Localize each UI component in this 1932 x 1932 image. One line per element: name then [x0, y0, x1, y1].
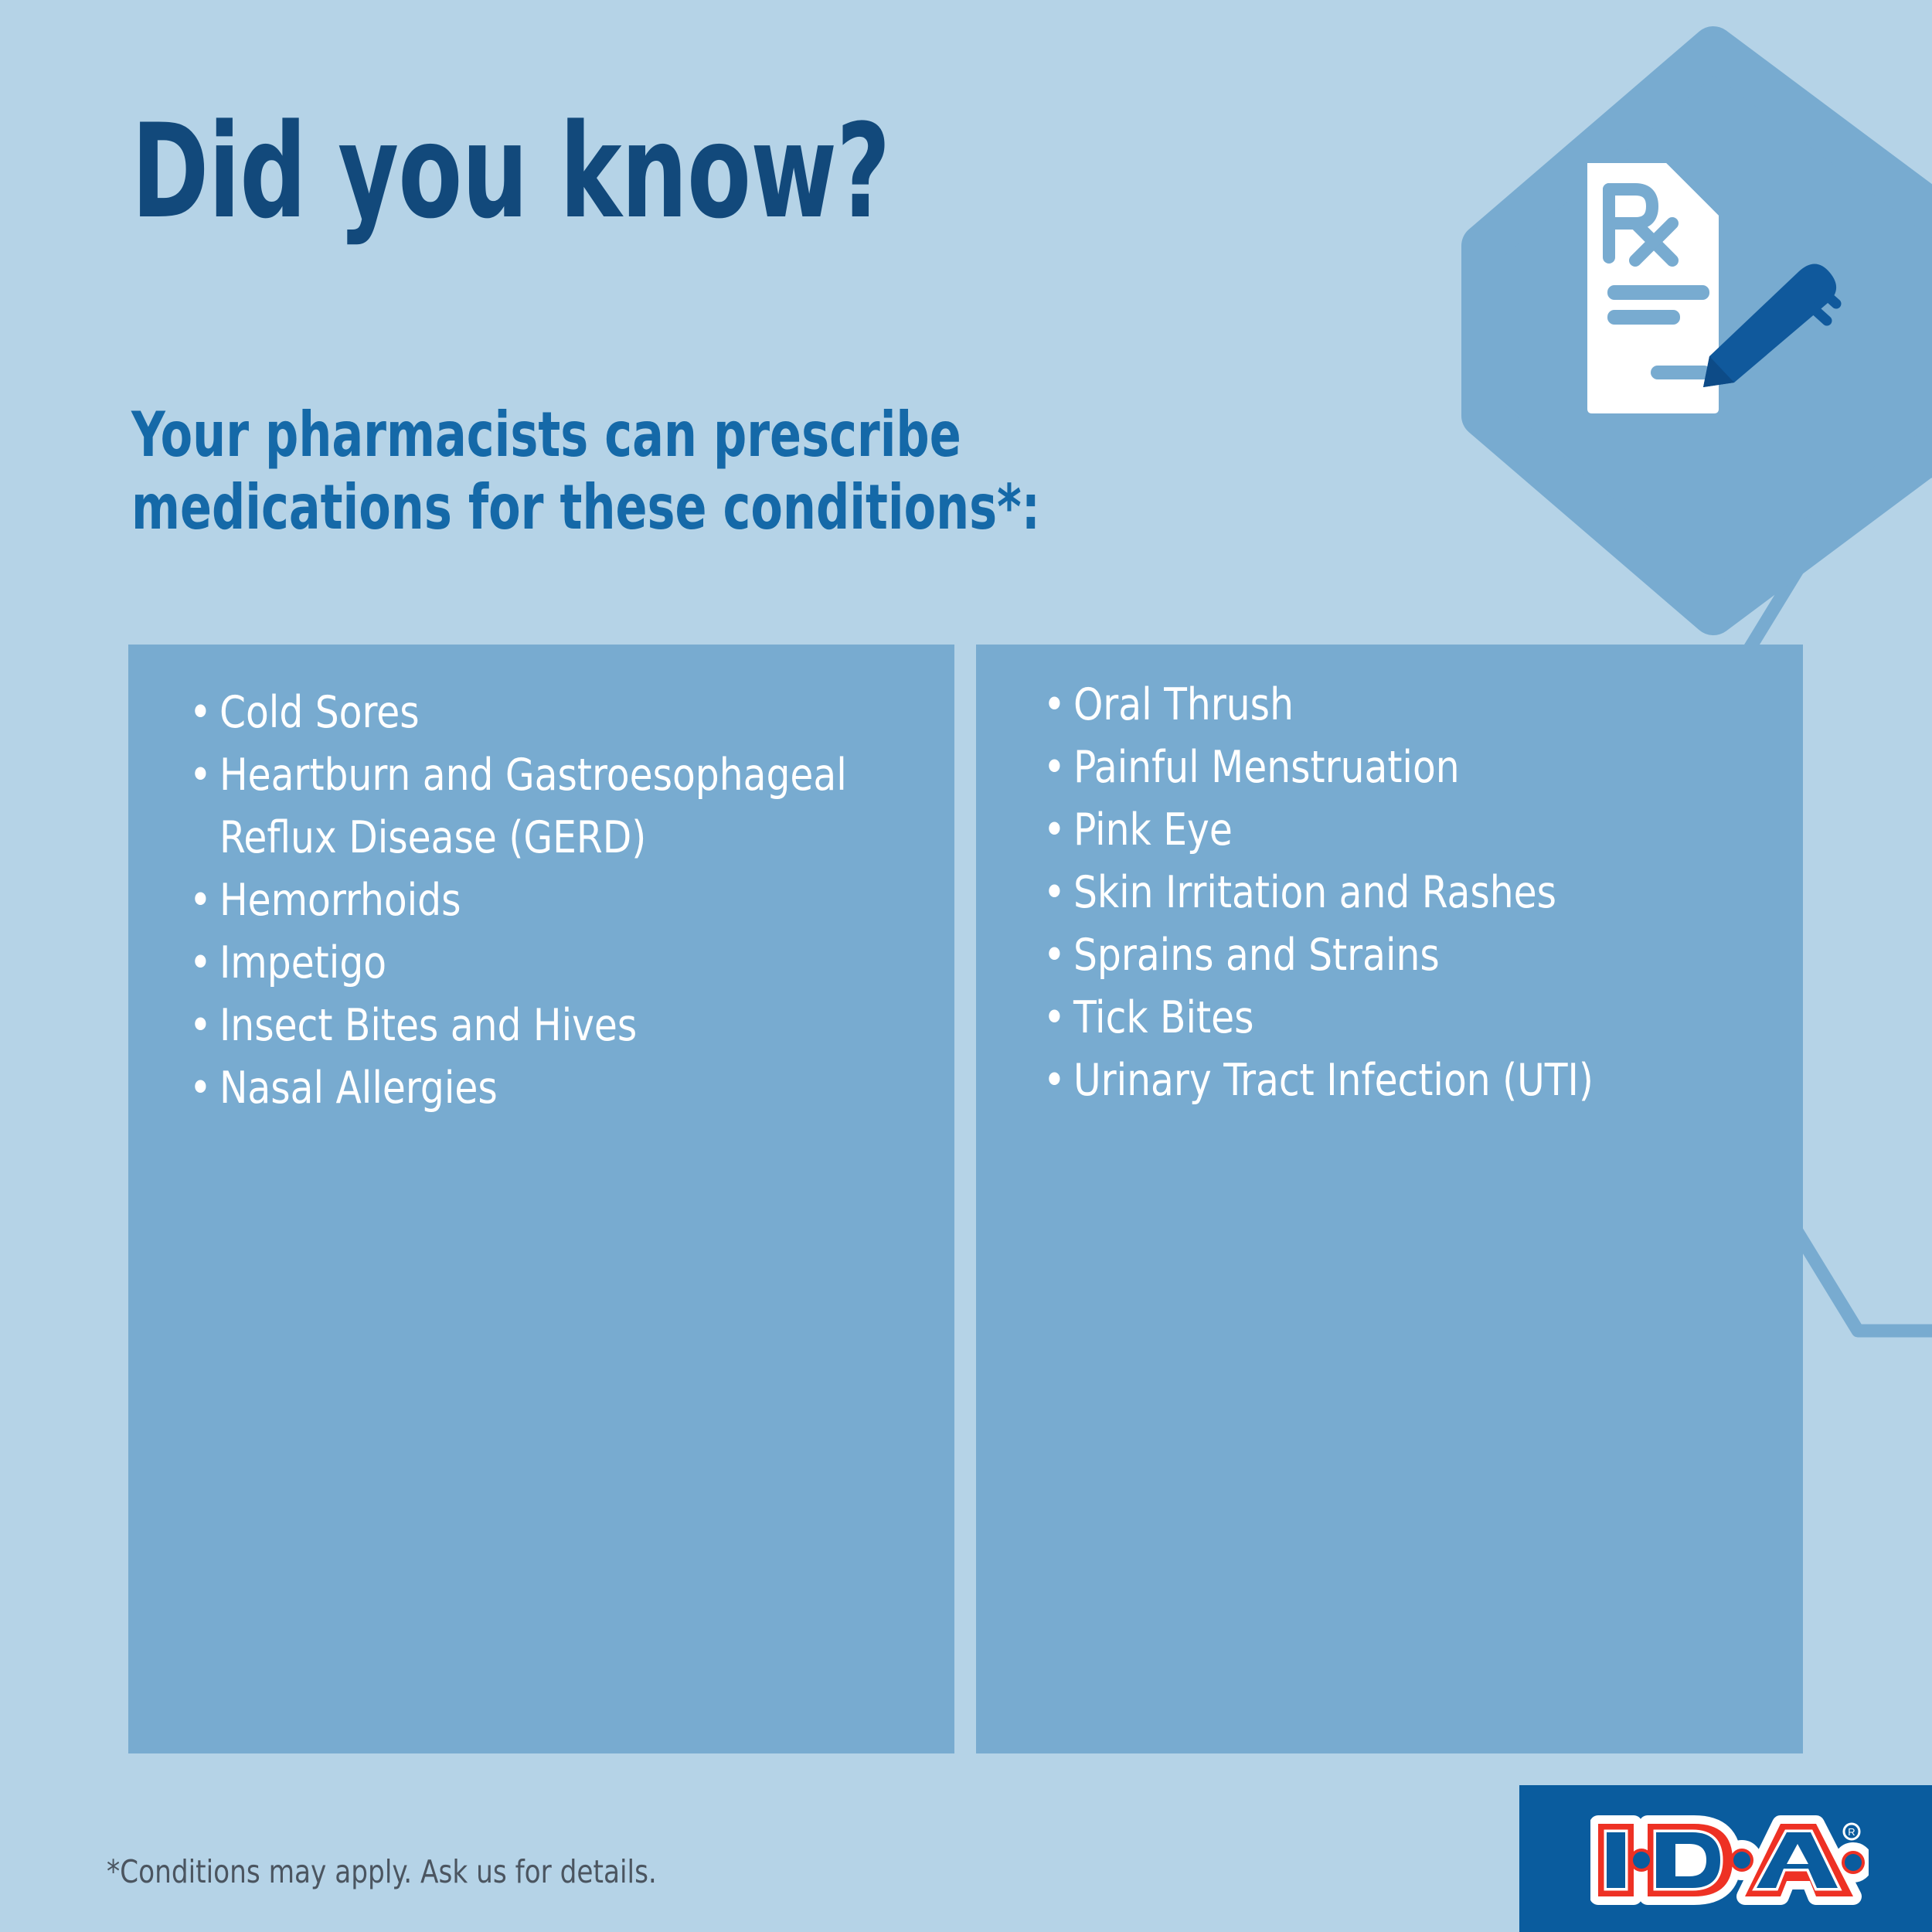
list-item: Skin Irritation and Rashes — [1043, 862, 1748, 924]
page-title: Did you know? — [131, 107, 890, 236]
conditions-panel-right: Oral Thrush Painful Menstruation Pink Ey… — [976, 645, 1803, 1753]
list-item: Insect Bites and Hives — [189, 995, 894, 1057]
svg-text:R: R — [1848, 1826, 1855, 1838]
conditions-list-right: Oral Thrush Painful Menstruation Pink Ey… — [1043, 674, 1785, 1112]
page-subtitle-line-1: Your pharmacists can prescribe — [131, 399, 1040, 471]
paper-line-2 — [1607, 310, 1680, 325]
pen-icon — [1703, 264, 1836, 387]
list-item: Sprains and Strains — [1043, 924, 1748, 987]
list-item: Pink Eye — [1043, 799, 1748, 862]
trademark-icon: R — [1844, 1824, 1859, 1839]
paper-line-1 — [1607, 285, 1709, 300]
page-subtitle: Your pharmacists can prescribe medicatio… — [131, 399, 1040, 545]
rx-prescription-icon — [1581, 158, 1844, 413]
ida-logo-d-counter — [1675, 1844, 1706, 1876]
list-item: Hemorrhoids — [189, 869, 894, 932]
list-item: Tick Bites — [1043, 987, 1748, 1049]
signature-line — [1651, 366, 1711, 379]
list-item: Urinary Tract Infection (UTI) — [1043, 1049, 1748, 1112]
list-item: Cold Sores — [189, 682, 894, 744]
list-item: Oral Thrush — [1043, 674, 1748, 736]
conditions-list-left: Cold Sores Heartburn and Gastroesophagea… — [189, 682, 931, 1120]
list-item: Impetigo — [189, 932, 894, 995]
conditions-panel-left: Cold Sores Heartburn and Gastroesophagea… — [128, 645, 954, 1753]
list-item: Nasal Allergies — [189, 1057, 894, 1120]
footnote-text: *Conditions may apply. Ask us for detail… — [107, 1853, 657, 1890]
list-item: Heartburn and Gastroesophageal Reflux Di… — [189, 744, 894, 869]
list-item: Painful Menstruation — [1043, 736, 1748, 799]
page-subtitle-line-2: medications for these conditions*: — [131, 471, 1040, 544]
ida-logo: R — [1519, 1785, 1932, 1932]
poster-canvas: Did you know? Your pharmacists can presc… — [0, 0, 1932, 1932]
ida-logo-mark: R — [1590, 1815, 1869, 1906]
